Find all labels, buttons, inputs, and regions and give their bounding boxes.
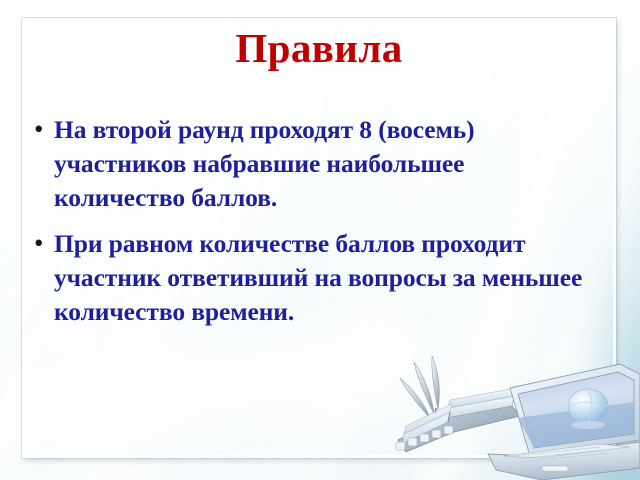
list-item: • На второй раунд проходят 8 (восемь) уч…: [34, 113, 602, 215]
quill-feather-icon: [400, 356, 439, 434]
bullet-point-icon: •: [34, 227, 54, 260]
laptop-book-quill-illustration: [392, 348, 640, 480]
bullet-text: При равном количестве баллов проходит уч…: [54, 227, 602, 329]
open-book-icon: [396, 388, 520, 452]
bullet-text: На второй раунд проходят 8 (восемь) учас…: [54, 113, 602, 215]
laptop-icon: [488, 364, 640, 480]
list-item: • При равном количестве баллов проходит …: [34, 227, 602, 329]
bullet-list: • На второй раунд проходят 8 (восемь) уч…: [34, 113, 602, 341]
presentation-slide: Правила • На второй раунд проходят 8 (во…: [0, 0, 640, 480]
slide-title: Правила: [30, 26, 608, 70]
bullet-point-icon: •: [34, 113, 54, 146]
